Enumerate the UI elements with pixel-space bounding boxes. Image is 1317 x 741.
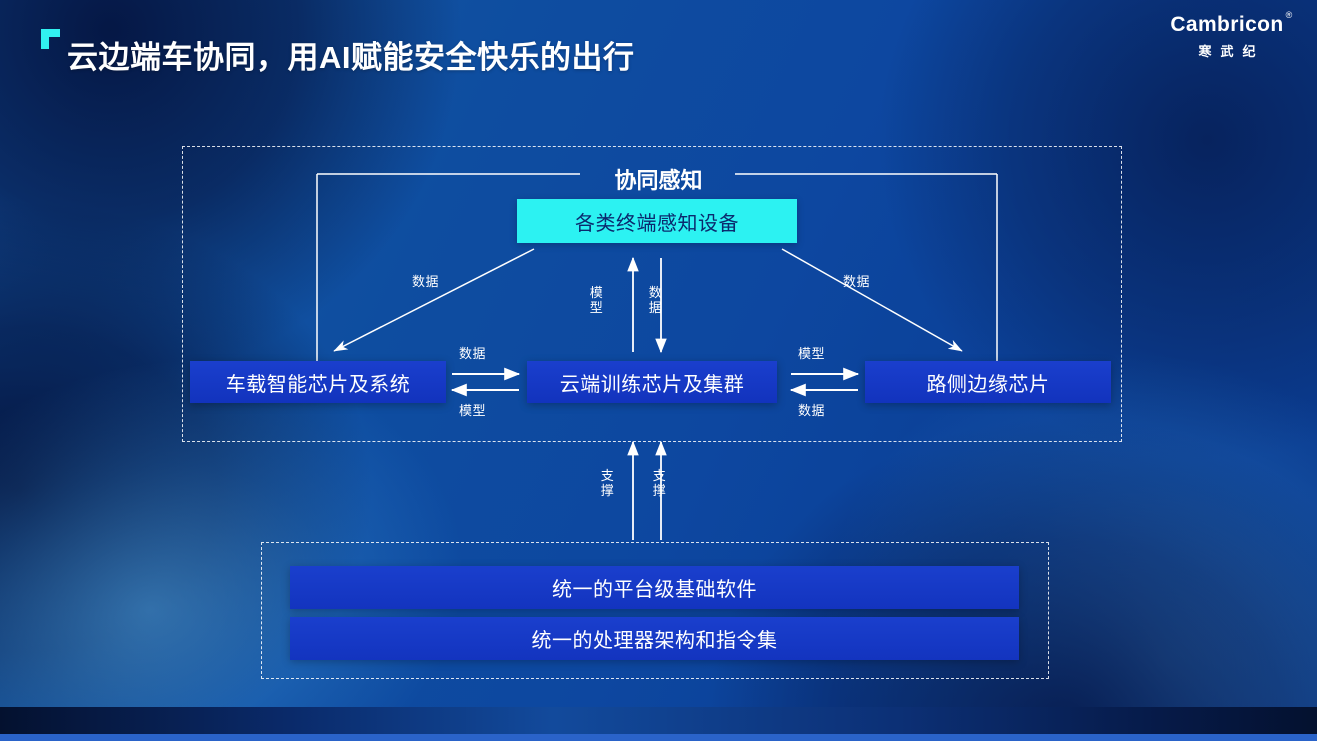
background-bottom-strip	[0, 734, 1317, 741]
background-bottom-band	[0, 707, 1317, 735]
slide-canvas: 云边端车协同，用AI赋能安全快乐的出行 Cambricon ® 寒武纪	[0, 0, 1317, 741]
edge-label-sensor-to-vehicle: 数据	[412, 271, 439, 290]
brand-logo: Cambricon ® 寒武纪	[1162, 14, 1292, 60]
logo-wordmark: Cambricon ®	[1170, 14, 1283, 36]
edge-label-vehicle-cloud-data: 数据	[459, 343, 486, 362]
corner-bracket-icon	[41, 29, 60, 49]
node-roadside-edge-chip[interactable]: 路侧边缘芯片	[865, 361, 1111, 403]
node-cloud-training-cluster[interactable]: 云端训练芯片及集群	[527, 361, 777, 403]
node-sensor-devices[interactable]: 各类终端感知设备	[517, 199, 797, 243]
edge-label-cloud-roadside-model: 模型	[798, 343, 825, 362]
edge-label-cloud-up-model: 模型	[589, 286, 604, 316]
bar-platform-base-software[interactable]: 统一的平台级基础软件	[290, 566, 1019, 609]
edge-label-support-right: 支撑	[652, 469, 667, 499]
node-vehicle-chip-system[interactable]: 车载智能芯片及系统	[190, 361, 446, 403]
edge-label-cloud-roadside-data: 数据	[798, 400, 825, 419]
edge-label-vehicle-cloud-model: 模型	[459, 400, 486, 419]
edge-label-sensor-to-roadside: 数据	[843, 271, 870, 290]
bar-processor-architecture-isa[interactable]: 统一的处理器架构和指令集	[290, 617, 1019, 660]
logo-wordmark-text: Cambricon	[1170, 13, 1283, 36]
page-title: 云边端车协同，用AI赋能安全快乐的出行	[67, 32, 635, 77]
registered-trademark-icon: ®	[1286, 11, 1293, 20]
logo-chinese-name: 寒武纪	[1162, 41, 1292, 60]
section-title-collaborative-perception: 协同感知	[0, 163, 1317, 195]
corner-bracket-vertical	[41, 29, 49, 49]
edge-label-support-left: 支撑	[600, 469, 615, 499]
edge-label-cloud-down-data: 数据	[648, 286, 663, 316]
